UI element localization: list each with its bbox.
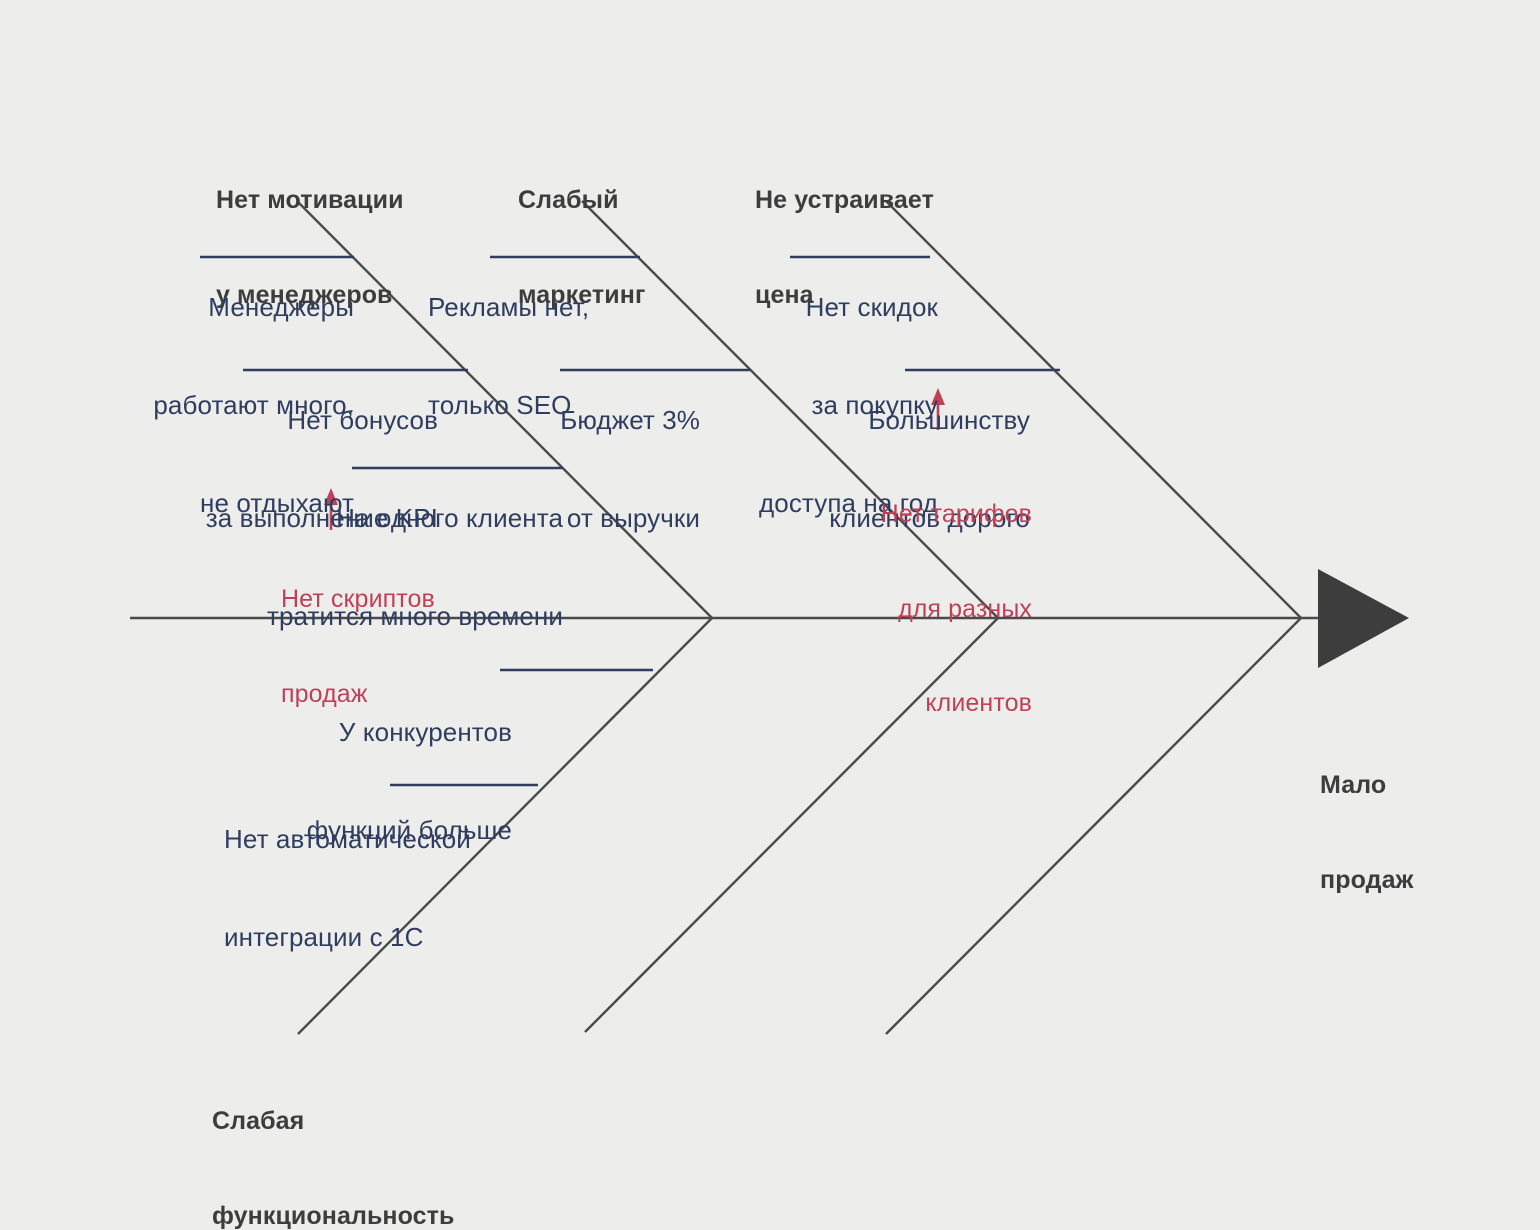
- cause-no-1c-integration: Нет автоматической интеграции с 1С: [224, 757, 554, 1019]
- note-no-tariffs-line1: Нет тарифов: [820, 499, 1032, 531]
- cause-no-kpi-bonus-line1: Нет бонусов: [118, 404, 438, 437]
- note-no-tariffs-line2: для разных: [820, 594, 1032, 626]
- effect-label-line2: продаж: [1320, 865, 1413, 897]
- effect-label-line1: Мало: [1320, 770, 1413, 802]
- category-header-marketing-line1: Слабый: [518, 185, 645, 217]
- category-header-price-line1: Не устраивает: [755, 185, 934, 217]
- category-header-functionality: Слабая функциональность: [212, 1043, 454, 1230]
- cause-competitors-features-line1: У конкурентов: [220, 716, 512, 749]
- effect-label: Мало продаж: [1320, 707, 1413, 959]
- cause-no-1c-integration-line1: Нет автоматической: [224, 823, 554, 856]
- category-header-functionality-line1: Слабая: [212, 1106, 454, 1138]
- note-no-tariffs: Нет тарифов для разных клиентов: [820, 436, 1032, 783]
- cause-no-1c-integration-line2: интеграции с 1С: [224, 921, 554, 954]
- cause-no-discounts-line1: Нет скидок: [618, 291, 938, 324]
- cause-managers-overwork-line1: Менеджеры: [54, 291, 354, 324]
- category-header-functionality-line2: функциональность: [212, 1201, 454, 1230]
- fishbone-diagram: Нет мотивации у менеджеров Слабый маркет…: [0, 0, 1540, 1230]
- note-no-tariffs-line3: клиентов: [820, 688, 1032, 720]
- effect-arrowhead: [1318, 569, 1409, 668]
- cause-too-expensive-line1: Большинству: [718, 404, 1030, 437]
- category-header-motivation-line1: Нет мотивации: [216, 185, 404, 217]
